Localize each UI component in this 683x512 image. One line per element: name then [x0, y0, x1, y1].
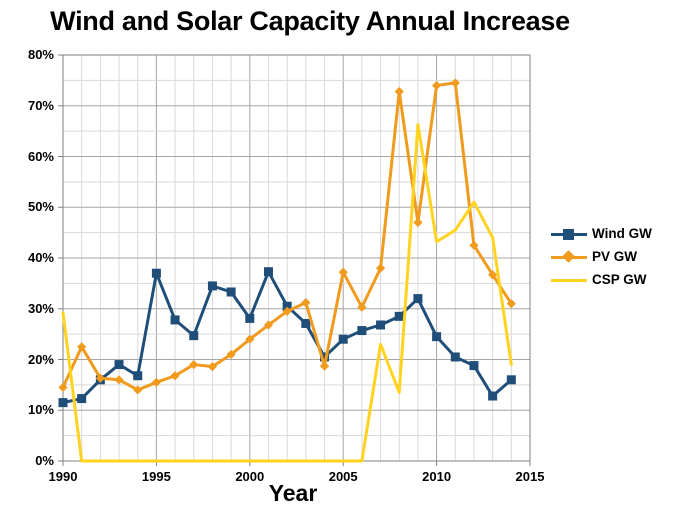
data-point-marker	[469, 361, 478, 370]
data-point-marker	[357, 326, 366, 335]
legend-item-wind-gw[interactable]: Wind GW	[549, 222, 681, 245]
chart-container: Wind and Solar Capacity Annual Increase …	[0, 0, 683, 512]
legend-swatch-icon	[549, 248, 589, 266]
legend-item-label: Wind GW	[592, 226, 652, 241]
data-point-marker	[264, 267, 273, 276]
data-point-marker	[301, 319, 310, 328]
data-point-marker	[152, 269, 161, 278]
data-point-marker	[451, 352, 460, 361]
legend-item-label: PV GW	[592, 249, 637, 264]
data-point-marker	[171, 315, 180, 324]
data-point-marker	[339, 335, 348, 344]
legend-item-csp-gw[interactable]: CSP GW	[549, 268, 681, 291]
data-point-marker	[133, 371, 142, 380]
legend-item-pv-gw[interactable]: PV GW	[549, 245, 681, 268]
data-point-marker	[507, 375, 516, 384]
legend-swatch-icon	[549, 225, 589, 243]
data-point-marker	[189, 331, 198, 340]
legend-swatch-icon	[549, 271, 589, 289]
data-point-marker	[488, 392, 497, 401]
data-point-marker	[227, 288, 236, 297]
data-point-marker	[432, 332, 441, 341]
data-point-marker	[395, 312, 404, 321]
data-point-marker	[115, 360, 124, 369]
data-point-marker	[77, 394, 86, 403]
data-point-marker	[413, 294, 422, 303]
data-point-marker	[245, 314, 254, 323]
data-point-marker	[208, 281, 217, 290]
legend-item-label: CSP GW	[592, 272, 647, 287]
chart-legend: Wind GWPV GWCSP GW	[549, 222, 681, 291]
data-point-marker	[59, 398, 68, 407]
data-point-marker	[376, 320, 385, 329]
